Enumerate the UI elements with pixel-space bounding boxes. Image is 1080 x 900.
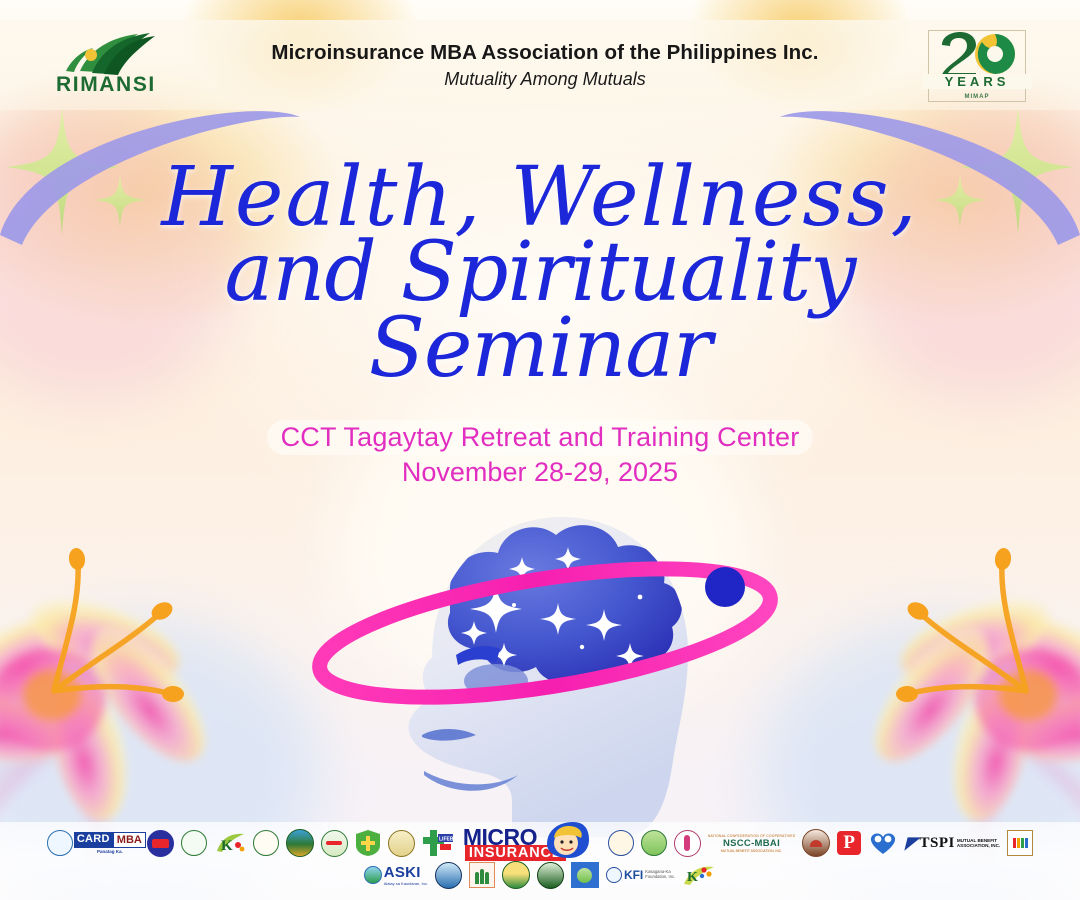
- kfi-wordmark: KFI: [624, 868, 643, 882]
- logo-tspi-mba: ◤ TSPI MUTUAL BENEFIT ASSOCIATION, INC.: [905, 833, 1000, 853]
- logo-people-circle: [674, 830, 701, 857]
- boy-mascot-icon: [545, 822, 589, 858]
- logo-green-globe: [641, 830, 667, 856]
- partner-logo-row-1: CARD MBA Panatag Ka. K: [0, 826, 1080, 860]
- logo-nscc-mbai: NATIONAL CONFEDERATION OF COOPERATIVES N…: [708, 834, 795, 853]
- nscc-line-3: MUTUAL BENEFIT ASSOCIATION, INC.: [721, 849, 782, 853]
- lily-flower-left: [0, 545, 290, 865]
- logo-brown-red-circle: [802, 829, 830, 857]
- logo-landscape-circle: [286, 829, 314, 857]
- logo-k-colorful: K: [682, 863, 716, 887]
- lily-flower-right: [790, 545, 1080, 865]
- p-letter: P: [837, 831, 861, 855]
- logo-sun-circle: [321, 830, 348, 857]
- logo-green-circle-1: [181, 830, 207, 856]
- rimansi-wordmark: RIMANSI: [56, 73, 156, 97]
- logo-k-swoosh: K: [214, 831, 246, 855]
- logo-dark-green-circle: [537, 862, 564, 889]
- logo-lifebank-cross: LIFEBANK: [422, 829, 454, 857]
- badge-20-numeral-icon: [938, 32, 1016, 80]
- logo-cmdi-circle: [147, 830, 174, 857]
- organization-tagline: Mutuality Among Mutuals: [168, 69, 922, 90]
- logo-aski: ASKI Alalay sa Kaunlaran, Inc.: [364, 864, 428, 886]
- k-colorful-icon: K: [682, 863, 716, 887]
- logo-gold-circle: [388, 830, 415, 857]
- mba-word: MBA: [113, 832, 146, 848]
- nscc-line-2: NSCC-MBAI: [723, 838, 780, 849]
- seminar-title: Health, Wellness, and Spirituality Semin…: [0, 160, 1080, 386]
- svg-text:K: K: [221, 838, 233, 854]
- logo-heart-people: [868, 830, 898, 856]
- logo-blue-globe-square: [571, 862, 599, 888]
- svg-text:K: K: [687, 870, 698, 885]
- seminar-title-line-3: Seminar: [0, 311, 1080, 386]
- logo-mba-circle-1: [47, 830, 73, 856]
- logo-blue-circle-1: [608, 830, 634, 856]
- hero-title-block: Health, Wellness, and Spirituality Semin…: [0, 160, 1080, 386]
- cross-icon: LIFEBANK: [422, 829, 454, 857]
- kfi-subtext: Kasagana-Ka Foundation, Inc.: [645, 870, 675, 879]
- logo-people-green: [469, 862, 495, 888]
- logo-kfi: KFI Kasagana-Ka Foundation, Inc.: [606, 867, 675, 883]
- logo-sunrise-circle: [502, 861, 530, 889]
- shield-icon: [355, 829, 381, 857]
- card-word: CARD: [74, 832, 113, 848]
- event-poster: RIMANSI Microinsurance MBA Association o…: [0, 0, 1080, 900]
- venue-name: CCT Tagaytay Retreat and Training Center: [267, 420, 814, 455]
- tspi-subtext: MUTUAL BENEFIT ASSOCIATION, INC.: [957, 838, 1000, 848]
- event-date: November 28-29, 2025: [0, 457, 1080, 488]
- logo-micro-insurance: MICRO INSURANCE: [461, 823, 601, 863]
- tspi-wordmark: TSPI: [920, 835, 955, 852]
- logo-colorful-square: [1007, 830, 1033, 856]
- poster-header: RIMANSI Microinsurance MBA Association o…: [0, 20, 1080, 110]
- heart-people-icon: [868, 830, 898, 856]
- organization-title: Microinsurance MBA Association of the Ph…: [168, 41, 922, 65]
- partner-logo-row-2: ASKI Alalay sa Kaunlaran, Inc.: [0, 858, 1080, 892]
- aski-subtext: Alalay sa Kaunlaran, Inc.: [384, 881, 428, 886]
- partner-logo-strip: CARD MBA Panatag Ka. K: [0, 822, 1080, 900]
- badge-mimap-label: MIMAP: [922, 94, 1032, 100]
- svg-text:LIFEBANK: LIFEBANK: [439, 837, 454, 843]
- logo-green-circle-2: [253, 830, 279, 856]
- logo-shield-cross: [355, 829, 381, 857]
- k-swoosh-icon: K: [214, 831, 246, 855]
- card-mba-wordmark: CARD MBA: [74, 832, 146, 848]
- rimansi-leaf-icon: [60, 31, 156, 77]
- seminar-title-line-2: and Spirituality: [0, 235, 1080, 310]
- seminar-title-line-1: Health, Wellness,: [0, 160, 1080, 235]
- aski-wordmark: ASKI: [384, 864, 421, 881]
- logo-fish-circle: [435, 862, 462, 889]
- logo-card-mba: CARD MBA Panatag Ka.: [80, 831, 140, 855]
- tspi-swoosh-icon: ◤: [905, 833, 917, 853]
- badge-years-label: YEARS: [922, 74, 1032, 89]
- kfi-sub-2: Foundation, Inc.: [645, 874, 675, 879]
- logo-p-square: P: [837, 831, 861, 855]
- tspi-sub-2: ASSOCIATION, INC.: [957, 843, 1000, 848]
- rimansi-logo: RIMANSI: [48, 29, 168, 101]
- header-org-block: Microinsurance MBA Association of the Ph…: [168, 41, 922, 90]
- card-mba-tagline: Panatag Ka.: [97, 849, 123, 854]
- venue-block: CCT Tagaytay Retreat and Training Center…: [0, 420, 1080, 489]
- anniversary-badge-20-years: YEARS MIMAP: [922, 26, 1032, 104]
- orbit-dot-icon: [705, 567, 745, 607]
